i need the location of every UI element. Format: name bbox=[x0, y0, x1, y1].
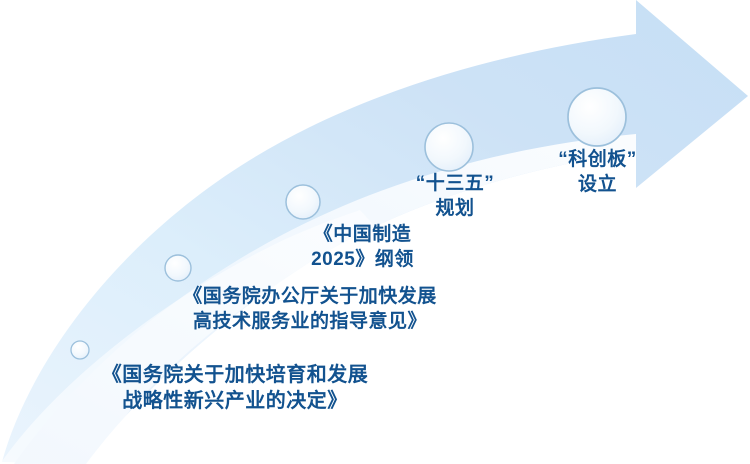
milestone-circle-4[interactable] bbox=[425, 123, 473, 171]
milestone-label-1: 《国务院关于加快培育和发展 战略性新兴产业的决定》 bbox=[60, 362, 410, 414]
milestone-label-5: “科创板” 设立 bbox=[545, 148, 650, 197]
milestone-label-3: 《中国制造 2025》纲领 bbox=[275, 223, 450, 272]
timeline-arrow-figure: “科创板” 设立 “十三五” 规划 《中国制造 2025》纲领 《国务院办公厅关… bbox=[0, 0, 750, 464]
milestone-label-2: 《国务院办公厅关于加快发展 高技术服务业的指导意见》 bbox=[160, 285, 460, 334]
milestone-circle-3[interactable] bbox=[286, 185, 320, 219]
milestone-circle-2[interactable] bbox=[165, 255, 191, 281]
milestone-label-4: “十三五” 规划 bbox=[405, 172, 505, 221]
milestone-circle-1[interactable] bbox=[71, 341, 89, 359]
milestone-circle-5[interactable] bbox=[568, 88, 626, 146]
